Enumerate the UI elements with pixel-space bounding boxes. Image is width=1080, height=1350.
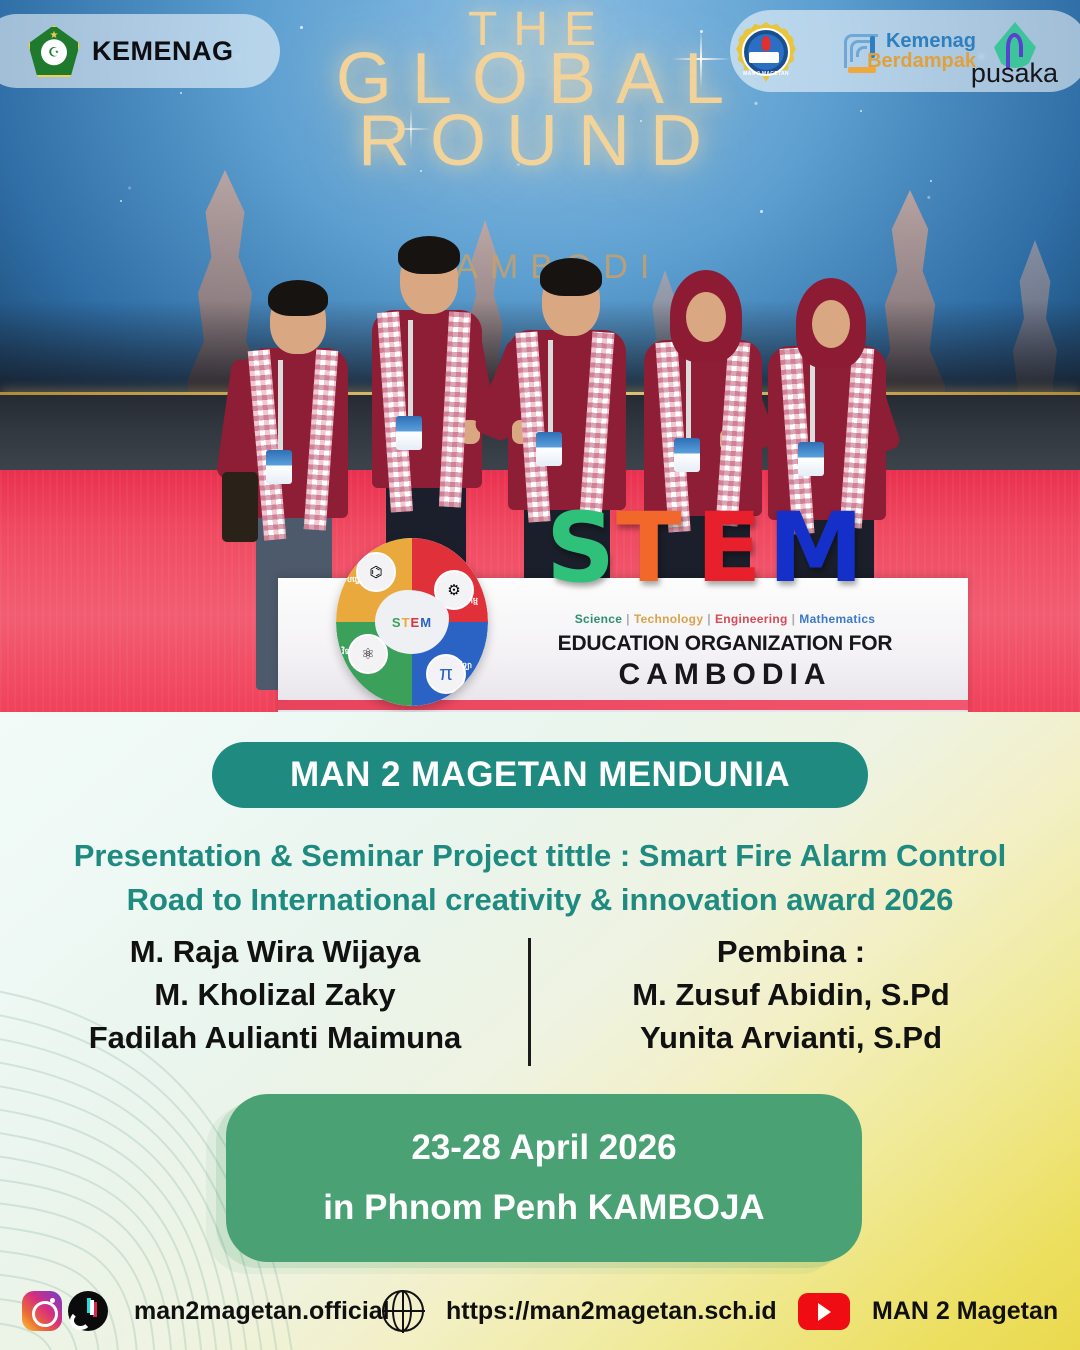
mentors-heading: Pembina : (556, 930, 1026, 973)
man2magetan-crest-icon: MAN 2 MAGETAN (736, 22, 796, 82)
subtitle-line-1: Presentation & Seminar Project tittle : … (0, 838, 1080, 874)
mentors-column: Pembina : M. Zusuf Abidin, S.Pd Yunita A… (556, 930, 1026, 1059)
podium-subjects: Science|Technology|Engineering|Mathemati… (560, 612, 890, 626)
subject-science: Science (575, 612, 622, 626)
footer-bar: man2magetan.official https://man2magetan… (0, 1272, 1080, 1350)
event-photo: THE GLOBAL ROUND CAMBODI (0, 0, 1080, 712)
instagram-icon[interactable] (22, 1291, 62, 1331)
event-date-range: 23-28 (411, 1128, 501, 1167)
youtube-icon[interactable] (798, 1293, 850, 1330)
student-name: M. Kholizal Zaky (40, 973, 510, 1016)
subtitle-line-2: Road to International creativity & innov… (0, 882, 1080, 918)
circuit-icon: ⌬ (356, 552, 396, 592)
stem-letter-s: S (546, 508, 615, 588)
kemenag-berdampak-line2: Berdampak (867, 50, 976, 73)
event-date-rest: April 2026 (501, 1128, 677, 1167)
pusaka-wordmark: pusaka (971, 58, 1058, 89)
stem-circular-logo: បច្ចេកវិទ្យា វិស្វកម្ម វិទ្យាសាស្ត្រ គណិ… (336, 538, 488, 706)
student-name: M. Raja Wira Wijaya (40, 930, 510, 973)
tiktok-icon[interactable] (68, 1291, 108, 1331)
page-title: MAN 2 MAGETAN MENDUNIA (290, 755, 790, 795)
poster-root: THE GLOBAL ROUND CAMBODI (0, 0, 1080, 1350)
subject-mathematics: Mathematics (799, 612, 875, 626)
website-text: https://man2magetan.sch.id (446, 1297, 777, 1326)
pi-icon: π (426, 654, 466, 694)
credits-divider (528, 938, 531, 1066)
mentor-name: Yunita Arvianti, S.Pd (556, 1016, 1026, 1059)
students-column: M. Raja Wira Wijaya M. Kholizal Zaky Fad… (40, 930, 510, 1059)
youtube-channel-text: MAN 2 Magetan (872, 1297, 1058, 1326)
headline-pill: MAN 2 MAGETAN MENDUNIA (212, 742, 868, 808)
date-location-card: 23-28 April 2026 in Phnom Penh KAMBOJA (226, 1094, 862, 1262)
event-location: in Phnom Penh KAMBOJA (323, 1188, 764, 1228)
subject-engineering: Engineering (715, 612, 788, 626)
info-panel: MAN 2 MAGETAN MENDUNIA Presentation & Se… (0, 712, 1080, 1350)
kemenag-crest-icon: ★ ☪ (28, 25, 80, 77)
podium-org-line1: EDUCATION ORGANIZATION FOR (545, 632, 905, 656)
mentor-name: M. Zusuf Abidin, S.Pd (556, 973, 1026, 1016)
stem-letter-e: E (696, 508, 762, 588)
website-group[interactable]: https://man2magetan.sch.id (382, 1272, 777, 1350)
student-name: Fadilah Aulianti Maimuna (40, 1016, 510, 1059)
podium-org-line2: CAMBODIA (545, 658, 905, 692)
social-group[interactable]: man2magetan.official (22, 1272, 390, 1350)
subject-technology: Technology (634, 612, 703, 626)
credits-section: M. Raja Wira Wijaya M. Kholizal Zaky Fad… (0, 930, 1080, 1065)
stem-letter-m: M (768, 508, 864, 588)
globe-icon[interactable] (382, 1290, 424, 1332)
kemenag-wordmark: KEMENAG (92, 36, 234, 67)
youtube-group[interactable]: MAN 2 Magetan (798, 1272, 1058, 1350)
podium-base-line (278, 700, 968, 710)
man-crest-ribbon-text: MAN 2 MAGETAN (743, 71, 789, 77)
stem-letter-t: T (616, 508, 681, 588)
social-handle-text: man2magetan.official (134, 1297, 390, 1326)
event-date-line: 23-28 April 2026 (411, 1128, 676, 1168)
